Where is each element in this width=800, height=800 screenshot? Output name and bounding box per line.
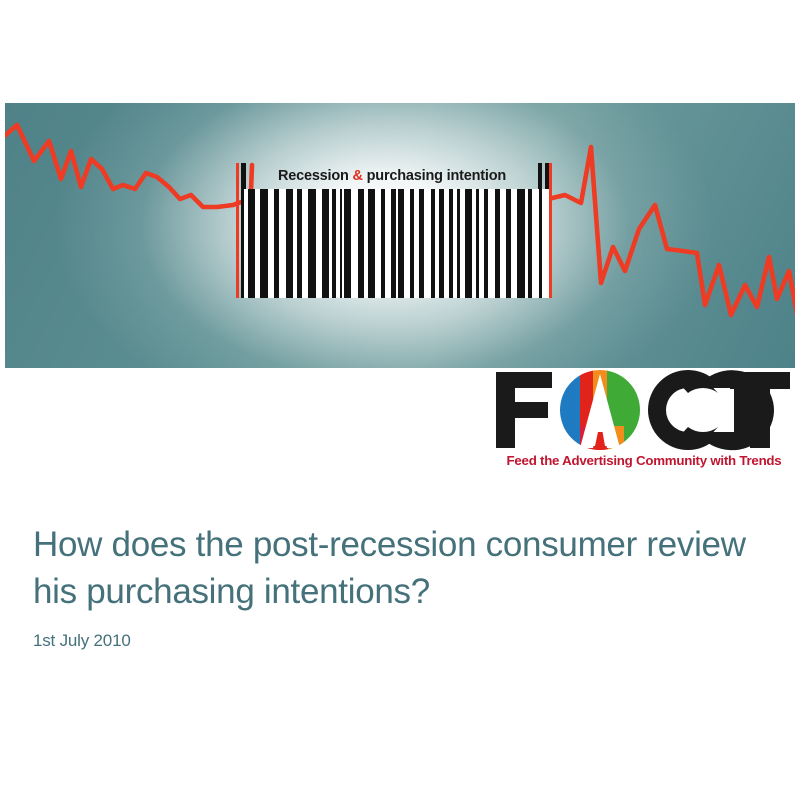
- barcode-graphic: Recession & purchasing intention: [241, 163, 549, 298]
- barcode-title-row: Recession & purchasing intention: [241, 163, 549, 189]
- logo-letter-a-circle: [560, 370, 640, 452]
- logo-letter-f: [496, 372, 552, 448]
- barcode-gap: [542, 189, 549, 298]
- barcode-bar: [308, 189, 316, 298]
- barcode-bar: [465, 189, 472, 298]
- barcode-gap: [424, 189, 431, 298]
- fact-logo-mark: [492, 368, 792, 452]
- barcode-bars: [241, 189, 549, 298]
- barcode-red-guard-left: [236, 163, 239, 298]
- barcode-bar: [286, 189, 293, 298]
- barcode-gap: [488, 189, 495, 298]
- barcode-title-text: Recession & purchasing intention: [246, 169, 538, 184]
- barcode-guard-bar-right-outer: [545, 163, 549, 189]
- banner-image: Recession & purchasing intention: [5, 103, 795, 368]
- barcode-bar: [368, 189, 375, 298]
- barcode-gap: [351, 189, 358, 298]
- presentation-slide: Recession & purchasing intention: [0, 0, 800, 800]
- barcode-gap: [532, 189, 539, 298]
- fact-logo-tagline: Feed the Advertising Community with Tren…: [496, 453, 792, 468]
- trend-line-right: [548, 147, 795, 325]
- barcode-guard-bar-right-inner: [538, 163, 542, 189]
- title-block: How does the post-recession consumer rev…: [33, 522, 753, 651]
- fact-logo: Feed the Advertising Community with Tren…: [492, 368, 792, 476]
- barcode-title-ampersand: &: [353, 168, 363, 184]
- barcode-red-guard-right: [549, 163, 552, 298]
- barcode-gap: [279, 189, 286, 298]
- slide-title: How does the post-recession consumer rev…: [33, 522, 753, 616]
- barcode-bar: [322, 189, 329, 298]
- barcode-bar: [517, 189, 525, 298]
- trend-line-left: [5, 125, 252, 271]
- slide-date: 1st July 2010: [33, 631, 753, 651]
- barcode-bar: [260, 189, 268, 298]
- barcode-title-suffix: purchasing intention: [363, 168, 506, 184]
- barcode-bar: [248, 189, 255, 298]
- barcode-title-prefix: Recession: [278, 168, 353, 184]
- barcode-bar: [344, 189, 351, 298]
- fact-wordmark-svg: [492, 368, 792, 452]
